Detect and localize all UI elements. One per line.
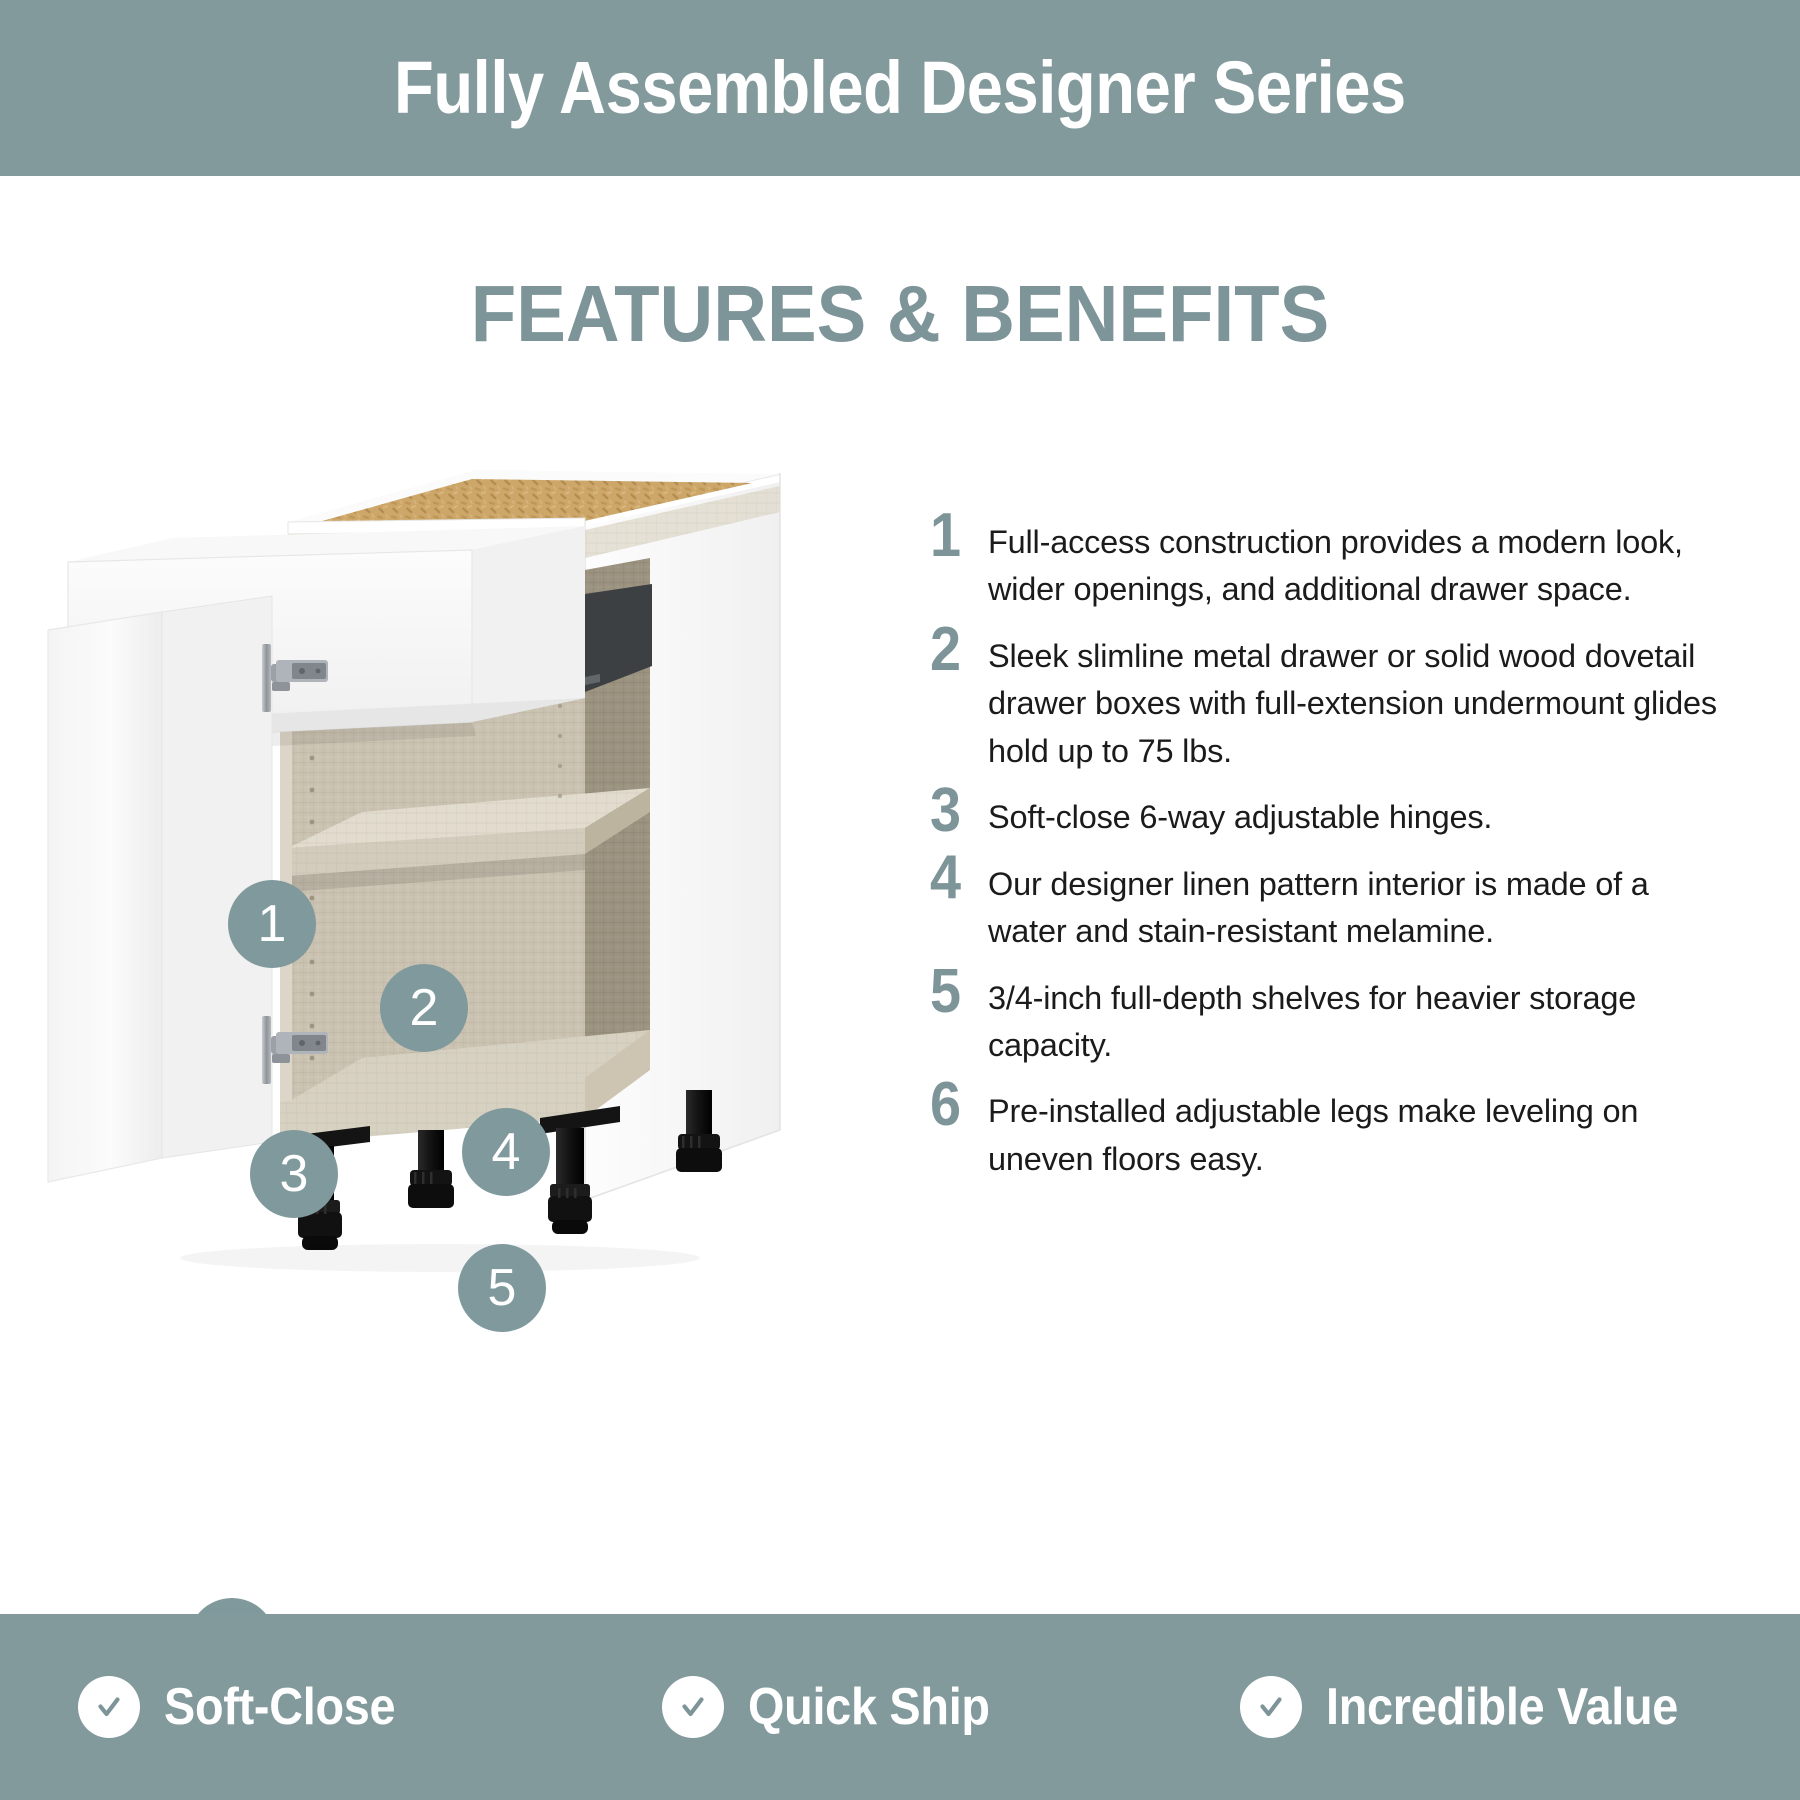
- callout-badge-label: 3: [280, 1148, 309, 1200]
- feature-number: 4: [930, 849, 982, 906]
- feature-item: 3 Soft-close 6-way adjustable hinges.: [930, 790, 1720, 841]
- product-illustration: 1 2 3 4 5 6: [40, 430, 920, 1360]
- footer-badge-label: Incredible Value: [1326, 1681, 1678, 1733]
- feature-number: 1: [930, 507, 982, 564]
- callout-badge-1[interactable]: 1: [228, 880, 316, 968]
- adjustable-leg: [408, 1130, 454, 1208]
- feature-text: Pre-installed adjustable legs make level…: [988, 1084, 1720, 1183]
- footer-badge-soft-close: Soft-Close: [0, 1676, 638, 1738]
- callout-badge-label: 5: [488, 1262, 517, 1314]
- check-circle-icon: [78, 1676, 140, 1738]
- feature-number: 5: [930, 963, 982, 1020]
- base-cabinet-graphic: [40, 430, 920, 1360]
- feature-item: 6 Pre-installed adjustable legs make lev…: [930, 1084, 1720, 1183]
- feature-text: 3/4-inch full-depth shelves for heavier …: [988, 971, 1720, 1070]
- feature-text: Our designer linen pattern interior is m…: [988, 857, 1720, 956]
- callout-badge-label: 2: [410, 982, 439, 1034]
- header-bar: Fully Assembled Designer Series: [0, 0, 1800, 176]
- check-circle-icon: [1240, 1676, 1302, 1738]
- footer-bar: Soft-Close Quick Ship Incredible Value: [0, 1614, 1800, 1800]
- feature-item: 2 Sleek slimline metal drawer or solid w…: [930, 629, 1720, 775]
- feature-item: 1 Full-access construction provides a mo…: [930, 515, 1720, 614]
- feature-text: Full-access construction provides a mode…: [988, 515, 1720, 614]
- section-heading: FEATURES & BENEFITS: [63, 272, 1737, 356]
- callout-badge-2[interactable]: 2: [380, 964, 468, 1052]
- feature-number: 3: [930, 782, 982, 839]
- callout-badge-label: 4: [492, 1126, 521, 1178]
- check-circle-icon: [662, 1676, 724, 1738]
- footer-badge-label: Soft-Close: [164, 1681, 395, 1733]
- footer-badge-quick-ship: Quick Ship: [638, 1676, 1222, 1738]
- footer-badge-incredible-value: Incredible Value: [1222, 1676, 1800, 1738]
- feature-number: 6: [930, 1076, 982, 1133]
- callout-badge-3[interactable]: 3: [250, 1130, 338, 1218]
- features-list: 1 Full-access construction provides a mo…: [930, 515, 1720, 1198]
- callout-badge-4[interactable]: 4: [462, 1108, 550, 1196]
- feature-text: Sleek slimline metal drawer or solid woo…: [988, 629, 1720, 775]
- callout-badge-label: 1: [258, 898, 287, 950]
- feature-number: 2: [930, 621, 982, 678]
- feature-item: 5 3/4-inch full-depth shelves for heavie…: [930, 971, 1720, 1070]
- feature-text: Soft-close 6-way adjustable hinges.: [988, 790, 1720, 841]
- footer-badge-label: Quick Ship: [748, 1681, 990, 1733]
- page-title: Fully Assembled Designer Series: [394, 51, 1406, 125]
- feature-item: 4 Our designer linen pattern interior is…: [930, 857, 1720, 956]
- callout-badge-5[interactable]: 5: [458, 1244, 546, 1332]
